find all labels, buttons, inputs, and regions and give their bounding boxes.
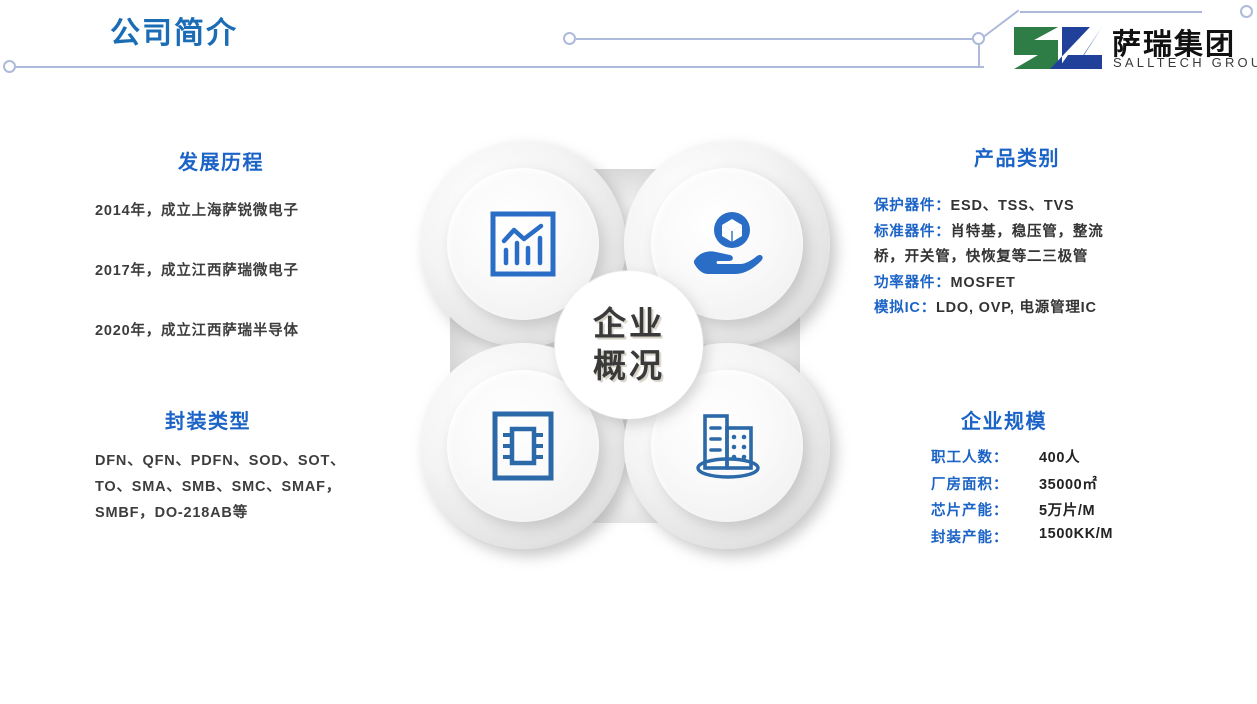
product-row-label: 功率器件： bbox=[874, 275, 951, 291]
page-title: 公司简介 bbox=[110, 8, 238, 52]
section-title-product: 产品类别 bbox=[974, 142, 1060, 171]
scale-row: 芯片产能： 5万片/M bbox=[931, 499, 1231, 520]
scale-row: 厂房面积： 35000㎡ bbox=[931, 473, 1231, 494]
product-row-label: 标准器件： bbox=[874, 224, 951, 240]
growth-chart-icon bbox=[486, 207, 560, 281]
scale-row-label: 厂房面积： bbox=[931, 473, 1039, 494]
product-row-value: MOSFET bbox=[951, 275, 1016, 291]
scale-row: 职工人数： 400人 bbox=[931, 446, 1231, 467]
trace-node-left bbox=[3, 60, 16, 73]
section-body-scale: 职工人数： 400人 厂房面积： 35000㎡ 芯片产能： 5万片/M 封装产能… bbox=[931, 446, 1231, 552]
trace-node-right bbox=[1240, 5, 1253, 18]
product-row: 模拟IC：LDO, OVP, 电源管理IC bbox=[874, 296, 1204, 322]
history-item: 2020年，成立江西萨瑞半导体 bbox=[95, 319, 425, 340]
scale-row-value: 400人 bbox=[1039, 446, 1080, 467]
section-title-scale: 企业规模 bbox=[961, 405, 1047, 434]
product-row: 标准器件：肖特基，稳压管，整流 bbox=[874, 220, 1204, 246]
logo-name-en: SALLTECH GROUP bbox=[1113, 55, 1257, 70]
product-row-label: 保护器件： bbox=[874, 198, 951, 214]
history-item: 2014年，成立上海萨锐微电子 bbox=[95, 199, 425, 220]
section-title-history: 发展历程 bbox=[178, 146, 264, 175]
history-item: 2017年，成立江西萨瑞微电子 bbox=[95, 259, 425, 280]
header-trace-upper bbox=[576, 38, 980, 40]
product-row: 功率器件：MOSFET bbox=[874, 271, 1204, 297]
scale-row-value: 5万片/M bbox=[1039, 499, 1095, 520]
buildings-icon bbox=[687, 408, 767, 484]
trace-node-mid bbox=[563, 32, 576, 45]
header-trace-top-right bbox=[1020, 11, 1202, 13]
logo-mark-icon bbox=[1012, 24, 1104, 72]
central-infographic: 企业 概况 bbox=[415, 133, 835, 558]
center-label-circle: 企业 概况 bbox=[555, 271, 703, 419]
center-label-line1: 企业 bbox=[593, 303, 665, 345]
scale-row-value: 35000㎡ bbox=[1039, 473, 1097, 494]
product-row-value: ESD、TSS、TVS bbox=[951, 198, 1075, 214]
header-trace-lower bbox=[14, 66, 984, 68]
scale-row-label: 封装产能： bbox=[931, 526, 1039, 547]
product-row: 保护器件：ESD、TSS、TVS bbox=[874, 194, 1204, 220]
microchip-icon bbox=[486, 408, 560, 484]
scale-row: 封装产能： 1500KK/M bbox=[931, 526, 1231, 547]
trace-node-junction bbox=[972, 32, 985, 45]
section-body-package: DFN、QFN、PDFN、SOD、SOT、TO、SMA、SMB、SMC、SMAF… bbox=[95, 448, 355, 526]
product-row-value: LDO, OVP, 电源管理IC bbox=[936, 300, 1097, 316]
company-logo: 萨瑞集团 SALLTECH GROUP bbox=[1012, 22, 1244, 78]
section-body-product: 保护器件：ESD、TSS、TVS 标准器件：肖特基，稳压管，整流 桥，开关管，快… bbox=[874, 194, 1204, 322]
scale-row-label: 职工人数： bbox=[931, 446, 1039, 467]
scale-row-value: 1500KK/M bbox=[1039, 526, 1113, 547]
section-body-history: 2014年，成立上海萨锐微电子 2017年，成立江西萨瑞微电子 2020年，成立… bbox=[95, 199, 425, 379]
scale-row-label: 芯片产能： bbox=[931, 499, 1039, 520]
page-header: 公司简介 萨瑞集团 SALLTECH GROUP bbox=[0, 0, 1257, 105]
section-title-package: 封装类型 bbox=[165, 405, 251, 434]
center-label-line2: 概况 bbox=[593, 345, 665, 387]
product-row-value: 肖特基，稳压管，整流 bbox=[951, 224, 1104, 240]
product-row-continued: 桥，开关管，快恢复等二三极管 bbox=[874, 245, 1204, 271]
hand-holding-package-icon bbox=[688, 207, 766, 281]
product-row-label: 模拟IC： bbox=[874, 300, 936, 316]
